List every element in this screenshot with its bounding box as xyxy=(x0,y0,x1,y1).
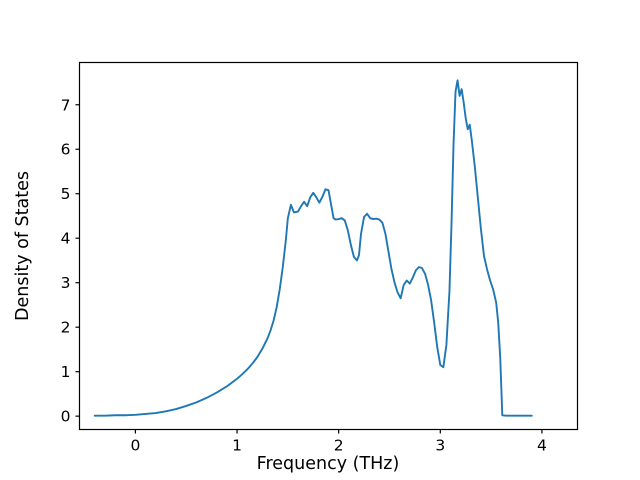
y-tick-label: 5 xyxy=(61,185,71,203)
x-axis-label: Frequency (THz) xyxy=(257,454,400,474)
y-tick-label: 6 xyxy=(61,141,71,159)
y-tick-label: 0 xyxy=(61,408,71,426)
x-tick-label: 1 xyxy=(232,437,242,455)
y-tick-label: 7 xyxy=(61,96,71,114)
dos-plot: 01234 01234567 Frequency (THz) Density o… xyxy=(0,0,640,480)
figure-canvas: 01234 01234567 Frequency (THz) Density o… xyxy=(0,0,640,480)
y-tick-label: 2 xyxy=(61,319,71,337)
x-tick-label: 2 xyxy=(334,437,344,455)
x-tick-label: 4 xyxy=(537,437,547,455)
y-tick-label: 4 xyxy=(61,230,71,248)
y-tick-label: 3 xyxy=(61,274,71,292)
y-tick-label: 1 xyxy=(61,363,71,381)
figure-background xyxy=(0,0,640,480)
x-tick-label: 3 xyxy=(435,437,445,455)
y-axis-label: Density of States xyxy=(13,171,33,321)
x-tick-label: 0 xyxy=(130,437,140,455)
